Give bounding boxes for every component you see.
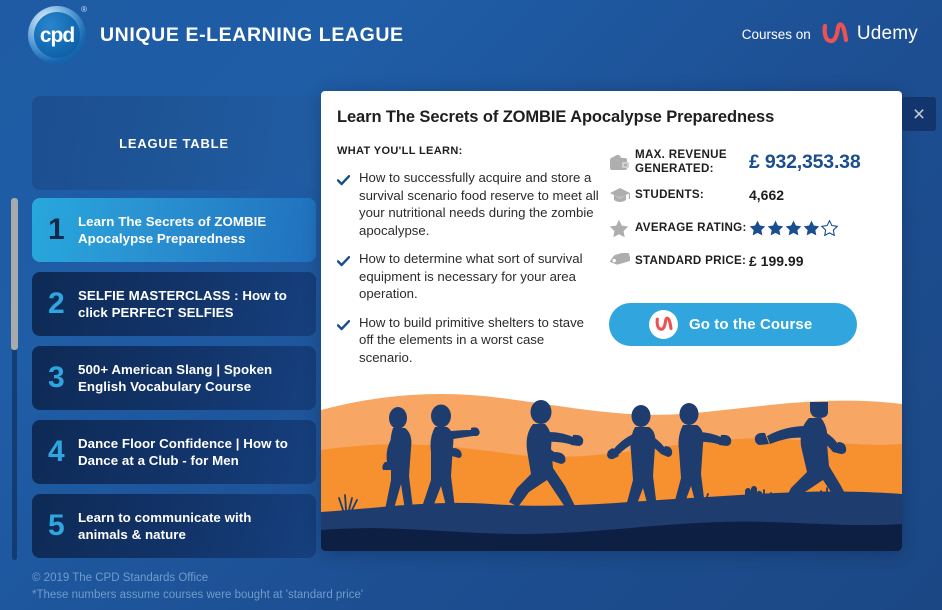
- rank-course-title: Learn to communicate with animals & natu…: [78, 509, 302, 543]
- udemy-wordmark-text: Udemy: [857, 23, 918, 45]
- sidebar-scrollbar-thumb[interactable]: [11, 198, 18, 350]
- courses-on-label: Courses on: [742, 27, 811, 42]
- footer-disclaimer: *These numbers assume courses were bough…: [32, 587, 363, 604]
- stat-label: MAX. REVENUE GENERATED:: [635, 148, 749, 176]
- stat-row: AVERAGE RATING:: [609, 213, 889, 243]
- learn-list: How to successfully acquire and store a …: [337, 169, 599, 366]
- league-table-list: 1Learn The Secrets of ZOMBIE Apocalypse …: [32, 198, 316, 568]
- stat-row: STUDENTS:4,662: [609, 180, 889, 210]
- stat-value: £ 199.99: [749, 253, 804, 269]
- price-tag-icon: [609, 253, 635, 270]
- league-table-title: LEAGUE TABLE: [119, 136, 229, 151]
- rank-number: 5: [48, 511, 78, 541]
- rating-stars: [749, 220, 838, 236]
- stat-value: 4,662: [749, 187, 784, 203]
- brand: cpd ® UNIQUE E-LEARNING LEAGUE: [28, 6, 404, 64]
- go-to-course-button[interactable]: Go to the Course: [609, 303, 857, 346]
- zombie-scene-svg: [321, 388, 902, 551]
- check-icon: [337, 254, 350, 272]
- page-header: cpd ® UNIQUE E-LEARNING LEAGUE Courses o…: [0, 0, 942, 72]
- close-icon: ×: [913, 104, 925, 125]
- udemy-badge-icon: [649, 310, 678, 339]
- close-modal-button[interactable]: ×: [902, 97, 936, 131]
- star-filled-icon: [749, 220, 766, 236]
- learn-item-text: How to determine what sort of survival e…: [359, 250, 599, 303]
- star-filled-icon: [767, 220, 784, 236]
- udemy-logo: Udemy: [821, 22, 918, 46]
- sidebar: LEAGUE TABLE 1Learn The Secrets of ZOMBI…: [0, 92, 322, 570]
- courses-on-udemy: Courses on Udemy: [742, 22, 918, 46]
- rank-course-title: SELFIE MASTERCLASS : How to click PERFEC…: [78, 287, 302, 321]
- star-empty-icon: [821, 220, 838, 236]
- learn-list-item: How to determine what sort of survival e…: [337, 250, 599, 303]
- zombie-illustration: [321, 388, 902, 551]
- rank-number: 2: [48, 289, 78, 319]
- rank-course-title: 500+ American Slang | Spoken English Voc…: [78, 361, 302, 395]
- learn-item-text: How to build primitive shelters to stave…: [359, 314, 599, 367]
- check-icon: [337, 318, 350, 336]
- rank-number: 1: [48, 215, 78, 245]
- star-filled-icon: [803, 220, 820, 236]
- stat-label: STANDARD PRICE:: [635, 254, 749, 268]
- what-you-will-learn-section: WHAT YOU'LL LEARN: How to successfully a…: [337, 145, 599, 377]
- learn-list-item: How to successfully acquire and store a …: [337, 169, 599, 239]
- stat-row: STANDARD PRICE:£ 199.99: [609, 246, 889, 276]
- stat-label: AVERAGE RATING:: [635, 221, 749, 235]
- rank-course-title: Dance Floor Confidence | How to Dance at…: [78, 435, 302, 469]
- rank-number: 3: [48, 363, 78, 393]
- league-table-row[interactable]: 5Learn to communicate with animals & nat…: [32, 494, 316, 558]
- page-root: cpd ® UNIQUE E-LEARNING LEAGUE Courses o…: [0, 0, 942, 610]
- league-table-header: LEAGUE TABLE: [32, 96, 316, 190]
- footer: © 2019 The CPD Standards Office *These n…: [32, 570, 363, 605]
- learn-item-text: How to successfully acquire and store a …: [359, 169, 599, 239]
- go-to-course-label: Go to the Course: [689, 316, 812, 333]
- learn-heading: WHAT YOU'LL LEARN:: [337, 145, 599, 157]
- star-filled-icon: [785, 220, 802, 236]
- modal-title: Learn The Secrets of ZOMBIE Apocalypse P…: [337, 108, 882, 127]
- cpd-logo-text: cpd: [40, 25, 74, 46]
- stat-label: STUDENTS:: [635, 188, 749, 202]
- course-stats: MAX. REVENUE GENERATED:£ 932,353.38STUDE…: [609, 147, 889, 279]
- udemy-u-icon: [654, 316, 674, 333]
- league-table-row[interactable]: 1Learn The Secrets of ZOMBIE Apocalypse …: [32, 198, 316, 262]
- stat-value: £ 932,353.38: [749, 151, 860, 174]
- league-table-row[interactable]: 3500+ American Slang | Spoken English Vo…: [32, 346, 316, 410]
- registered-mark: ®: [81, 5, 87, 14]
- league-table-row[interactable]: 4Dance Floor Confidence | How to Dance a…: [32, 420, 316, 484]
- wallet-icon: [609, 153, 635, 172]
- cpd-logo-icon: cpd ®: [28, 6, 86, 64]
- rank-number: 4: [48, 437, 78, 467]
- modal-body: WHAT YOU'LL LEARN: How to successfully a…: [321, 145, 902, 388]
- star-icon: [609, 219, 635, 238]
- udemy-u-icon: [821, 22, 851, 46]
- league-table-row[interactable]: 2SELFIE MASTERCLASS : How to click PERFE…: [32, 272, 316, 336]
- check-icon: [337, 173, 350, 191]
- graduation-cap-icon: [609, 187, 635, 204]
- brand-title: UNIQUE E-LEARNING LEAGUE: [100, 24, 404, 47]
- rank-course-title: Learn The Secrets of ZOMBIE Apocalypse P…: [78, 213, 302, 247]
- learn-list-item: How to build primitive shelters to stave…: [337, 314, 599, 367]
- footer-copyright: © 2019 The CPD Standards Office: [32, 570, 363, 587]
- stat-row: MAX. REVENUE GENERATED:£ 932,353.38: [609, 147, 889, 177]
